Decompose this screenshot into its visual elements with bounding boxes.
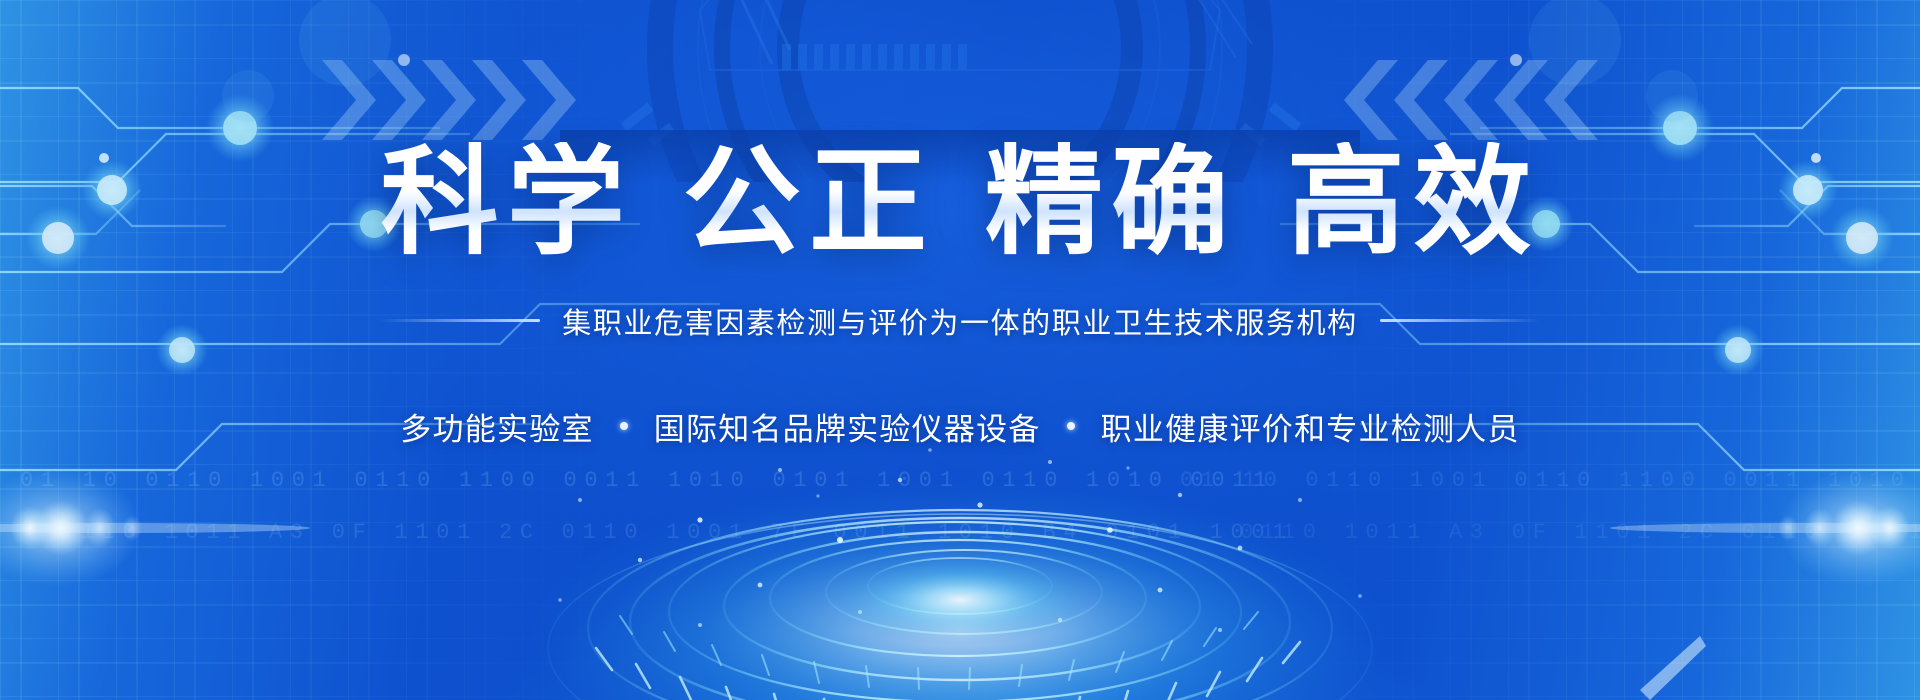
lens-flare-decoration	[0, 0, 1920, 700]
hero-banner: 01 10 0110 1001 0110 1100 0011 1010 0101…	[0, 0, 1920, 700]
